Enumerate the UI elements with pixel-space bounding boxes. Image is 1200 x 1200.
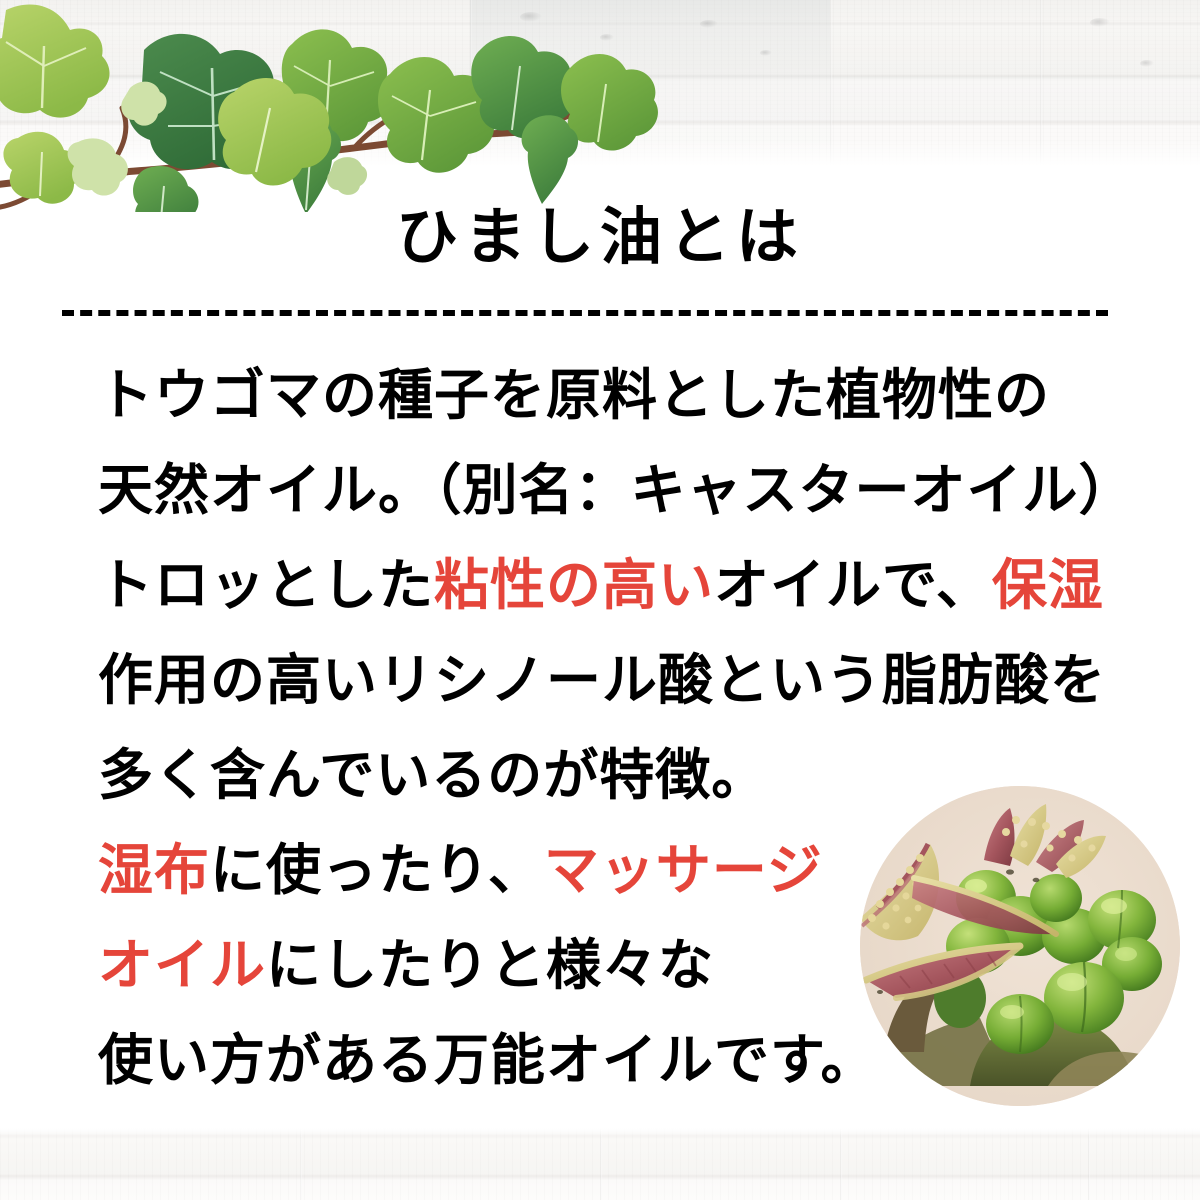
dashed-divider — [62, 310, 1108, 316]
plank-joint — [1088, 1128, 1090, 1200]
plank-joint — [840, 1128, 842, 1200]
highlighted-phrase: 粘性の高い — [434, 553, 714, 617]
body-phrase: にしたりと様々な — [266, 933, 714, 997]
body-line: トウゴマの種子を原料とした植物性の — [98, 348, 1108, 443]
body-phrase: 作用の高いリシノール酸という脂肪酸を — [98, 648, 1106, 712]
infographic-page: ひまし油とは トウゴマの種子を原料とした植物性の天然オイル。（別名：キャスターオ… — [0, 0, 1200, 1200]
body-phrase: に使ったり、 — [210, 838, 544, 902]
body-phrase: オイルで、 — [714, 553, 992, 617]
bottom-wood-banner — [0, 1128, 1200, 1200]
wood-speck — [1090, 18, 1110, 27]
body-line: トロッとした粘性の高いオイルで、保湿 — [98, 538, 1108, 633]
wood-speck — [1140, 60, 1154, 67]
plank-joint — [600, 1128, 602, 1200]
castor-bean-seed-pods-photo — [860, 786, 1180, 1106]
plank-joint — [300, 1128, 302, 1200]
wood-speck — [700, 20, 718, 28]
body-phrase: トロッとした — [98, 553, 434, 617]
page-title: ひまし油とは — [0, 206, 1200, 268]
banner-top-fade — [0, 1128, 1200, 1138]
body-line: 天然オイル。（別名：キャスターオイル） — [98, 443, 1108, 538]
highlighted-phrase: 保湿 — [992, 553, 1104, 617]
body-line: 作用の高いリシノール酸という脂肪酸を — [98, 633, 1108, 728]
highlighted-phrase: マッサージ — [544, 838, 823, 902]
wood-speck — [760, 50, 772, 56]
highlighted-phrase: 湿布 — [98, 838, 210, 902]
body-phrase: 天然オイル。（別名：キャスターオイル） — [98, 458, 1135, 522]
ivy-vine-decoration — [0, 0, 662, 212]
highlighted-phrase: オイル — [98, 933, 266, 997]
body-phrase: トウゴマの種子を原料とした植物性の — [98, 363, 1050, 427]
body-phrase: 使い方がある万能オイルです。 — [98, 1028, 877, 1092]
body-phrase: 多く含んでいるのが特徴。 — [98, 743, 767, 807]
